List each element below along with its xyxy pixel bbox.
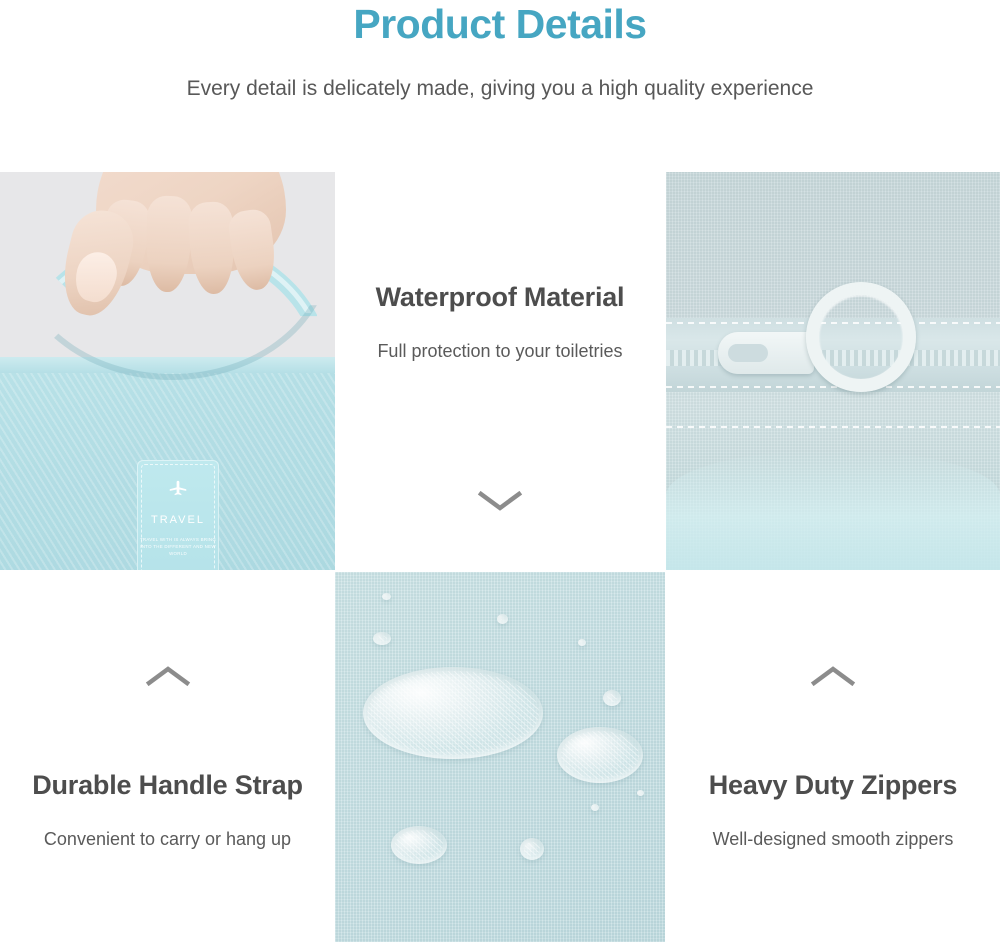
photo-cell-handle: TRAVEL TRAVEL WITH IS ALWAYS BRING INTO … <box>0 172 335 570</box>
water-droplet <box>382 593 391 600</box>
photo-cell-waterproof <box>335 572 665 942</box>
travel-label-patch: TRAVEL TRAVEL WITH IS ALWAYS BRING INTO … <box>137 460 219 570</box>
page-header: Product Details Every detail is delicate… <box>0 0 1000 172</box>
feature-cell-heavy-duty-zippers: Heavy Duty Zippers Well-designed smooth … <box>666 570 1000 942</box>
water-droplet <box>497 614 508 624</box>
feature-title-durable-handle-strap: Durable Handle Strap <box>0 768 335 802</box>
feature-text-handle-strap: Durable Handle Strap Convenient to carry… <box>0 768 335 852</box>
feature-cell-durable-handle-strap: Durable Handle Strap Convenient to carry… <box>0 570 335 942</box>
water-droplets-photo <box>335 572 665 942</box>
travel-label-fineprint: TRAVEL WITH IS ALWAYS BRING INTO THE DIF… <box>137 536 219 557</box>
feature-cell-waterproof-material: Waterproof Material Full protection to y… <box>335 172 665 570</box>
water-droplet <box>578 639 586 646</box>
zipper-photo <box>666 172 1000 570</box>
travel-label-title: TRAVEL <box>137 514 219 526</box>
water-droplet <box>520 838 544 860</box>
feature-text-zippers: Heavy Duty Zippers Well-designed smooth … <box>666 768 1000 852</box>
water-droplet <box>603 690 621 706</box>
zipper-stitch-bottom <box>666 426 1000 428</box>
fabric-sheen <box>666 450 1000 570</box>
water-droplet <box>391 826 447 864</box>
feature-desc-heavy-duty-zippers: Well-designed smooth zippers <box>666 826 1000 852</box>
feature-desc-waterproof-material: Full protection to your toiletries <box>335 338 665 364</box>
photo-cell-zipper <box>666 172 1000 570</box>
feature-title-waterproof-material: Waterproof Material <box>335 280 665 314</box>
chevron-up-icon <box>810 663 856 689</box>
chevron-down-icon <box>477 488 523 514</box>
airplane-icon <box>165 476 191 498</box>
feature-title-heavy-duty-zippers: Heavy Duty Zippers <box>666 768 1000 802</box>
chevron-up-icon <box>145 663 191 689</box>
water-droplet <box>373 632 391 645</box>
water-droplet <box>363 667 543 759</box>
handle-strap-photo: TRAVEL TRAVEL WITH IS ALWAYS BRING INTO … <box>0 172 335 570</box>
feature-desc-durable-handle-strap: Convenient to carry or hang up <box>0 826 335 852</box>
feature-grid: TRAVEL TRAVEL WITH IS ALWAYS BRING INTO … <box>0 172 1000 942</box>
zipper-stitch-mid <box>666 386 1000 388</box>
zipper-ring-pull <box>806 282 916 392</box>
water-droplet <box>557 727 643 783</box>
feature-text-waterproof: Waterproof Material Full protection to y… <box>335 280 665 364</box>
page-title: Product Details <box>0 0 1000 50</box>
water-droplet <box>637 790 644 796</box>
zipper-slider <box>718 332 814 374</box>
page-subtitle: Every detail is delicately made, giving … <box>0 75 1000 103</box>
water-droplet <box>591 804 599 811</box>
